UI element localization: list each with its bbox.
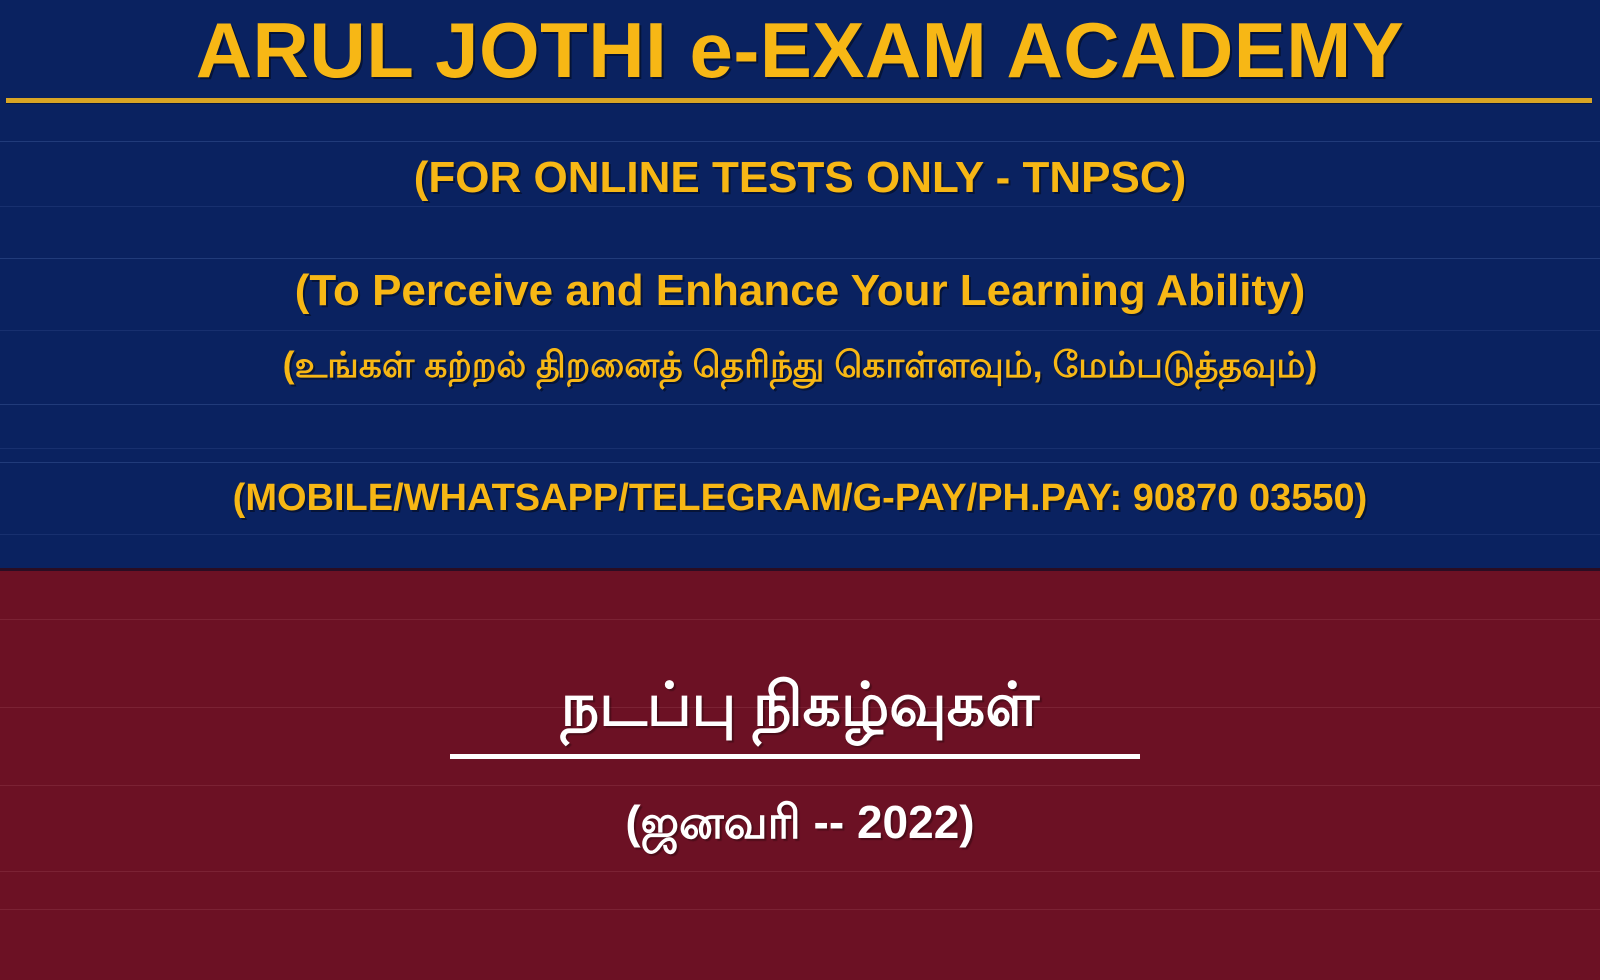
tagline-english: (To Perceive and Enhance Your Learning A…	[0, 262, 1600, 320]
maroon-banner: நடப்பு நிகழ்வுகள் (ஜனவரி -- 2022)	[0, 568, 1600, 980]
blue-banner: ARUL JOTHI e-EXAM ACADEMY (FOR ONLINE TE…	[0, 0, 1600, 568]
row-separator	[0, 206, 1600, 207]
row-separator	[0, 141, 1600, 142]
row-separator	[0, 258, 1600, 259]
page-title: ARUL JOTHI e-EXAM ACADEMY	[0, 4, 1600, 96]
section-heading: நடப்பு நிகழ்வுகள்	[0, 663, 1600, 747]
section-date: (ஜனவரி -- 2022)	[0, 789, 1600, 855]
scope-note: (FOR ONLINE TESTS ONLY - TNPSC)	[0, 150, 1600, 206]
contact-line: (MOBILE/WHATSAPP/TELEGRAM/G-PAY/PH.PAY: …	[0, 472, 1600, 524]
title-block: ARUL JOTHI e-EXAM ACADEMY	[0, 0, 1600, 104]
poster-page: ARUL JOTHI e-EXAM ACADEMY (FOR ONLINE TE…	[0, 0, 1600, 980]
row-separator	[0, 871, 1600, 872]
row-separator	[0, 534, 1600, 535]
tagline-tamil: (உங்கள் கற்றல் திறனைத் தெரிந்து கொள்ளவும…	[0, 340, 1600, 390]
row-separator	[0, 462, 1600, 463]
section-heading-underline	[450, 754, 1140, 759]
row-separator	[0, 330, 1600, 331]
row-separator	[0, 448, 1600, 449]
row-separator	[0, 785, 1600, 786]
row-separator	[0, 909, 1600, 910]
row-separator	[0, 619, 1600, 620]
title-underline	[6, 98, 1592, 103]
row-separator	[0, 404, 1600, 405]
